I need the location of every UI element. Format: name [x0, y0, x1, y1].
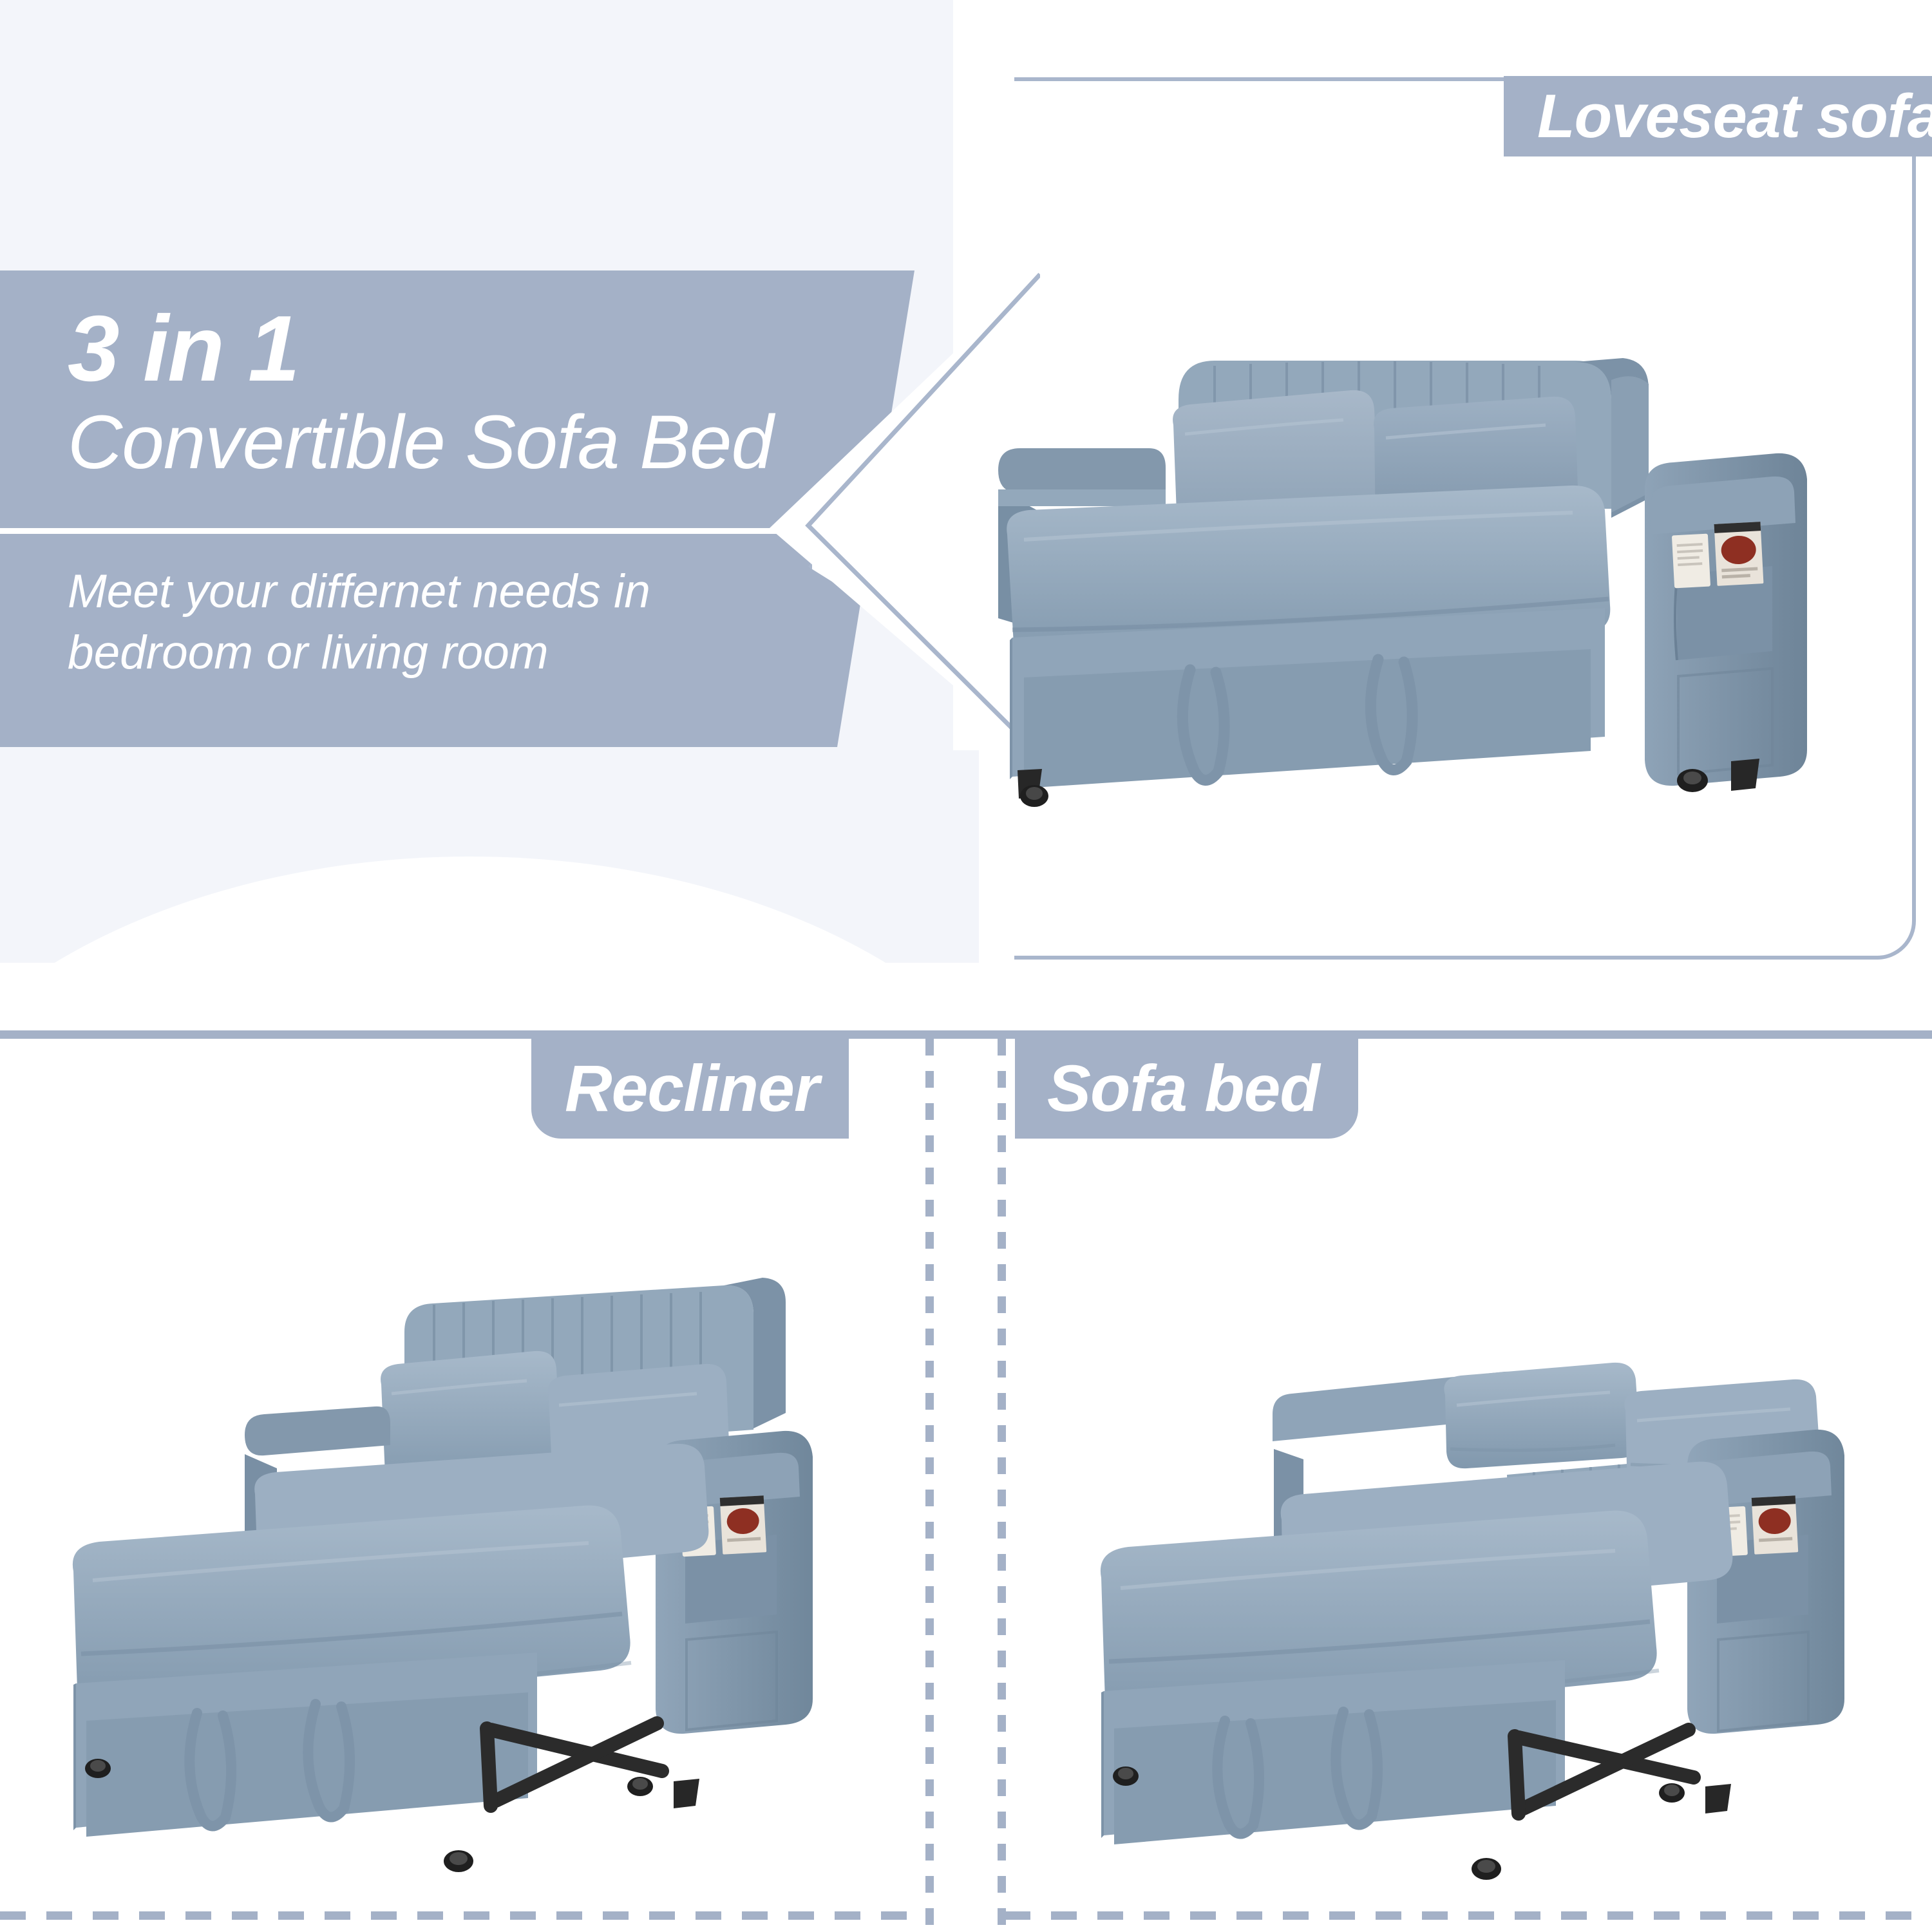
recliner-front-panel [73, 1653, 537, 1837]
section-divider-rule [0, 1030, 1932, 1039]
infographic-page: 3 in 1 Convertible Sofa Bed Meet your di… [0, 0, 1932, 1932]
banner-sofa-bed-label: Sofa bed [1047, 1051, 1320, 1126]
headline-divider [0, 528, 815, 534]
banner-sofa-bed: Sofa bed [1015, 1039, 1358, 1139]
headline-panel: 3 in 1 Convertible Sofa Bed Meet your di… [0, 270, 914, 747]
headline-line-1: 3 in 1 [68, 301, 828, 397]
top-section: 3 in 1 Convertible Sofa Bed Meet your di… [0, 0, 1932, 1037]
sofabed-front-panel [1101, 1660, 1565, 1844]
dashed-border-left-panel-bottom [0, 1911, 927, 1920]
headline-line-2: Convertible Sofa Bed [68, 402, 828, 484]
sofa-bed-image [1056, 1262, 1913, 1906]
banner-loveseat-sofa: Loveseat sofa [1504, 76, 1932, 156]
dashed-border-right-panel-left-edge [998, 1039, 1006, 1932]
dashed-border-right-panel-bottom [1005, 1911, 1932, 1920]
loveseat-sofa-image [985, 277, 1855, 824]
recliner-sofa-image [26, 1262, 882, 1906]
right-armrest [1645, 453, 1807, 786]
dashed-border-left-panel-right-edge [925, 1039, 934, 1932]
banner-loveseat-label: Loveseat sofa [1537, 81, 1932, 152]
pullout-base [1010, 608, 1605, 788]
banner-recliner: Recliner [531, 1039, 849, 1139]
headline-text-group: 3 in 1 Convertible Sofa Bed [68, 301, 828, 484]
headline-subtitle: Meet your differnet needs in bedroom or … [68, 562, 802, 684]
side-storage-pocket [1672, 522, 1772, 660]
banner-recliner-label: Recliner [565, 1051, 819, 1126]
